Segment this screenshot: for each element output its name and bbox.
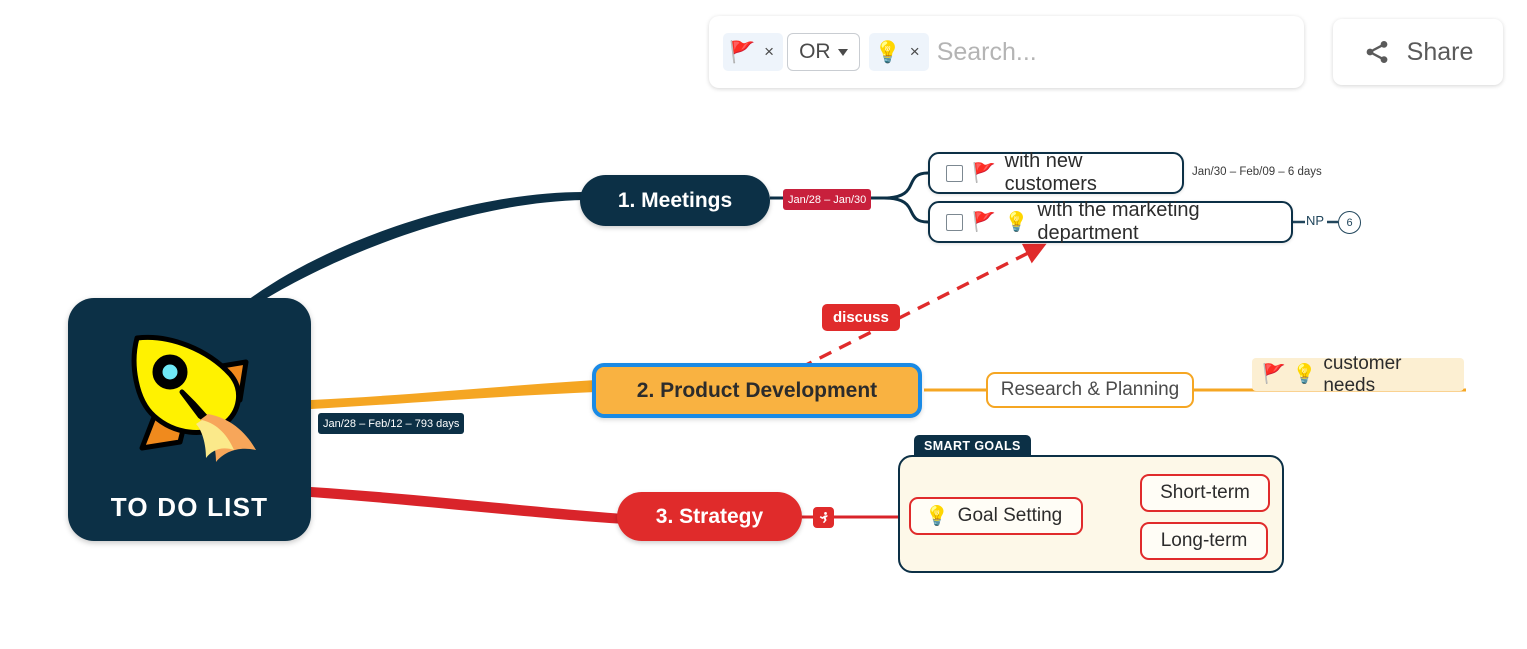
branch-node-product-development-label: 2. Product Development [637, 379, 877, 403]
share-button[interactable]: Share [1333, 19, 1503, 85]
node-long-term[interactable]: Long-term [1140, 522, 1268, 560]
central-node[interactable]: TO DO LIST [68, 298, 311, 541]
search-operator-dropdown[interactable]: OR [787, 33, 860, 71]
node-research-planning-label: Research & Planning [1001, 379, 1180, 401]
sprint-icon[interactable] [813, 507, 834, 528]
search-bar[interactable]: 🚩 × OR 💡 × [709, 16, 1304, 88]
flag-icon: 🚩 [972, 164, 996, 183]
lightbulb-icon: 💡 [925, 507, 949, 526]
chip-remove-lightbulb-icon[interactable]: × [910, 42, 920, 62]
lightbulb-icon: 💡 [875, 42, 901, 63]
connector-center-meetings [248, 192, 584, 306]
flag-icon: 🚩 [972, 213, 996, 232]
task-checkbox[interactable] [946, 165, 963, 182]
node-goal-setting-label: Goal Setting [958, 505, 1063, 527]
node-short-term-label: Short-term [1160, 482, 1250, 504]
connector-meetings-fork [884, 173, 928, 198]
task-node-new-customers[interactable]: 🚩 with new customers [928, 152, 1184, 194]
connector-center-product [311, 380, 596, 409]
node-short-term[interactable]: Short-term [1140, 474, 1270, 512]
boundary-smart-goals-title: SMART GOALS [914, 435, 1031, 457]
relationship-label-discuss[interactable]: discuss [822, 304, 900, 331]
connector-meetings-fork-2 [884, 198, 928, 222]
share-button-label: Share [1407, 38, 1474, 67]
lightbulb-icon: 💡 [1005, 213, 1029, 232]
lightbulb-icon: 💡 [1293, 365, 1317, 384]
node-long-term-label: Long-term [1161, 530, 1248, 552]
np-count-badge[interactable]: 6 [1338, 211, 1361, 234]
flag-icon: 🚩 [1262, 365, 1286, 384]
center-date-badge: Jan/28 – Feb/12 – 793 days [318, 413, 464, 434]
task-checkbox[interactable] [946, 214, 963, 231]
chevron-down-icon [838, 49, 848, 56]
top-toolbar: 🚩 × OR 💡 × Share [0, 0, 1527, 104]
node-customer-needs[interactable]: 🚩 💡 customer needs [1252, 358, 1464, 391]
node-customer-needs-label: customer needs [1323, 353, 1454, 397]
search-operator-label: OR [799, 40, 831, 64]
share-icon [1363, 38, 1391, 66]
branch-node-strategy[interactable]: 3. Strategy [617, 492, 802, 541]
search-chip-lightbulb[interactable]: 💡 × [869, 33, 929, 71]
meetings-date-badge: Jan/28 – Jan/30 [783, 189, 871, 210]
task-node-label: with the marketing department [1037, 199, 1275, 245]
node-goal-setting[interactable]: 💡 Goal Setting [909, 497, 1083, 535]
search-input[interactable] [933, 37, 1290, 68]
np-label: NP [1306, 213, 1324, 228]
branch-node-meetings-label: 1. Meetings [618, 189, 732, 213]
branch-node-product-development[interactable]: 2. Product Development [592, 363, 922, 418]
rocket-icon [104, 320, 276, 485]
branch-node-strategy-label: 3. Strategy [656, 505, 763, 529]
task-date-meta: Jan/30 – Feb/09 – 6 days [1192, 166, 1322, 178]
branch-node-meetings[interactable]: 1. Meetings [580, 175, 770, 226]
task-node-label: with new customers [1005, 150, 1166, 196]
central-node-label: TO DO LIST [111, 492, 268, 523]
node-research-planning[interactable]: Research & Planning [986, 372, 1194, 408]
chip-remove-flag-icon[interactable]: × [764, 42, 774, 62]
runner-glyph [817, 511, 830, 524]
flag-icon: 🚩 [729, 42, 755, 63]
task-node-marketing-department[interactable]: 🚩 💡 with the marketing department [928, 201, 1293, 243]
connector-center-strategy [311, 487, 624, 524]
search-chip-flag[interactable]: 🚩 × [723, 33, 783, 71]
